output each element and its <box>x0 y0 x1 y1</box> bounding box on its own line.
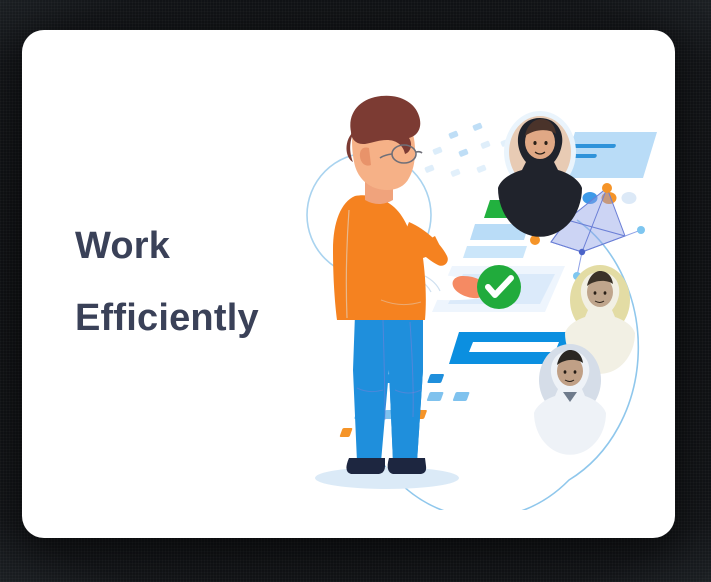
work-efficiently-illustration <box>277 70 667 510</box>
decor-dashes-top-left <box>424 122 511 177</box>
avatar-bottom-right[interactable] <box>534 344 606 455</box>
avatar-top[interactable] <box>498 111 582 237</box>
ground-shadow <box>315 467 459 489</box>
success-check-badge <box>477 265 521 309</box>
content-card: Work Efficiently <box>22 30 675 538</box>
